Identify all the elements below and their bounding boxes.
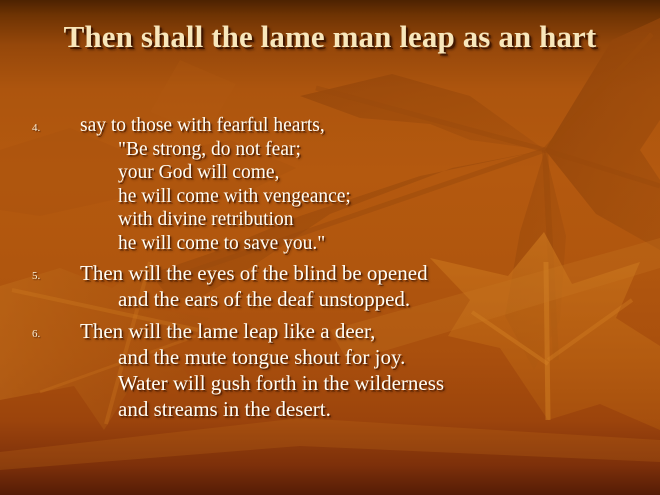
list-item: 4. say to those with fearful hearts, "Be… [24, 114, 646, 255]
presentation-slide: Then shall the lame man leap as an hart … [0, 0, 660, 495]
list-item-body: Then will the lame leap like a deer, and… [80, 318, 646, 422]
page-title: Then shall the lame man leap as an hart [36, 18, 624, 56]
list-item-lines: Then will the eyes of the blind be opene… [80, 260, 646, 312]
title-block: Then shall the lame man leap as an hart [0, 18, 660, 56]
text-line: and streams in the desert. [80, 396, 646, 422]
text-line: Then will the lame leap like a deer, [80, 318, 646, 344]
text-line: Water will gush forth in the wilderness [80, 370, 646, 396]
list-item: 5. Then will the eyes of the blind be op… [24, 260, 646, 312]
slide-body: 4. say to those with fearful hearts, "Be… [0, 114, 660, 424]
text-line: with divine retribution [80, 208, 646, 232]
list-item-lines: say to those with fearful hearts, "Be st… [80, 114, 646, 255]
list-item-number: 6. [24, 318, 80, 340]
text-line: and the ears of the deaf unstopped. [80, 286, 646, 312]
list-item-number: 5. [24, 260, 80, 282]
text-line: he will come with vengeance; [80, 185, 646, 209]
list-item-number: 4. [24, 114, 80, 134]
text-line: "Be strong, do not fear; [80, 138, 646, 162]
text-line: and the mute tongue shout for joy. [80, 344, 646, 370]
text-line: say to those with fearful hearts, [80, 114, 646, 138]
list-item-body: say to those with fearful hearts, "Be st… [80, 114, 646, 255]
list-item-lines: Then will the lame leap like a deer, and… [80, 318, 646, 422]
text-line: your God will come, [80, 161, 646, 185]
list-item: 6. Then will the lame leap like a deer, … [24, 318, 646, 422]
text-line: he will come to save you." [80, 232, 646, 256]
text-line: Then will the eyes of the blind be opene… [80, 260, 646, 286]
list-item-body: Then will the eyes of the blind be opene… [80, 260, 646, 312]
